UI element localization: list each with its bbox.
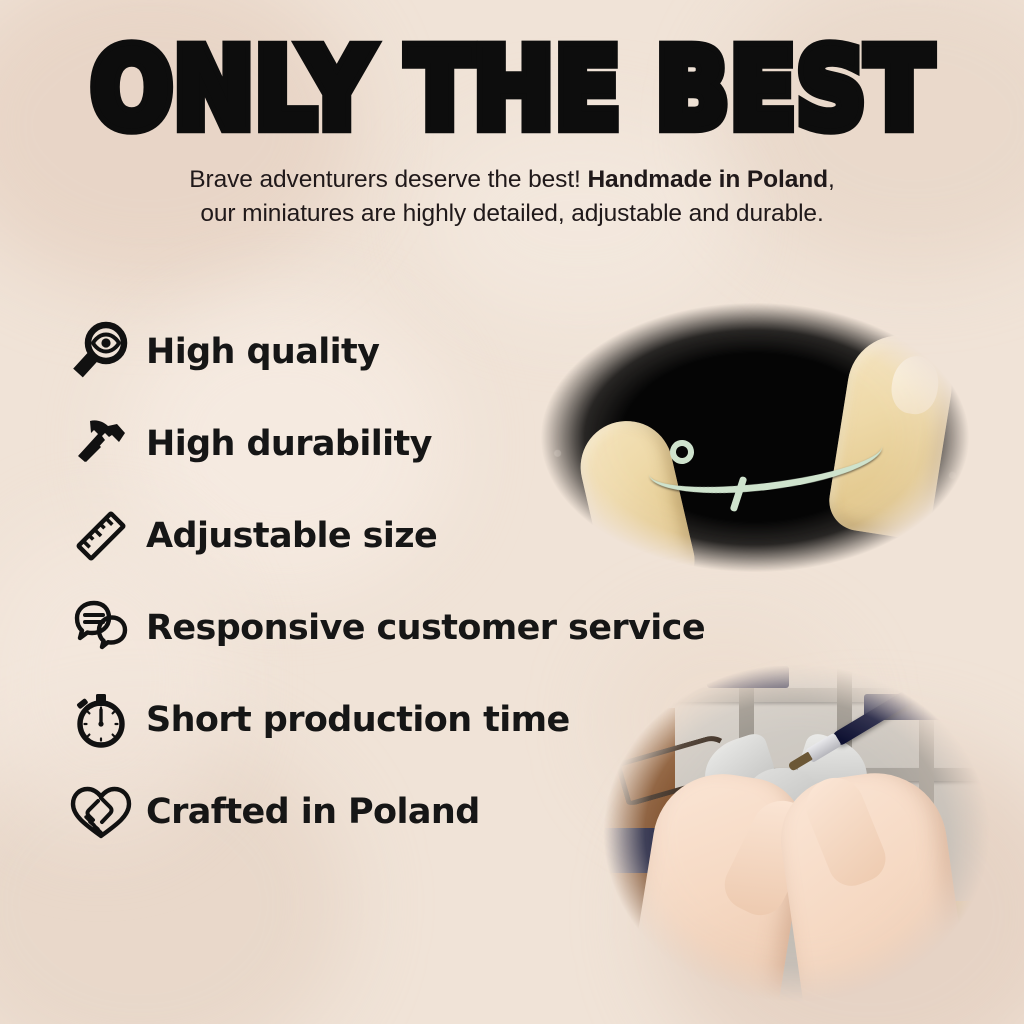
feature-list: High quality High durability bbox=[62, 306, 762, 858]
speech-bubbles-icon bbox=[62, 593, 140, 663]
hand-right bbox=[773, 764, 978, 1018]
subtitle-lead: Brave adventurers deserve the best! bbox=[189, 166, 587, 193]
feature-item-high-durability: High durability bbox=[62, 398, 762, 490]
ruler-icon bbox=[62, 501, 140, 571]
handshake-heart-icon bbox=[62, 777, 140, 847]
feature-item-crafted-in-poland: Crafted in Poland bbox=[62, 766, 762, 858]
feature-item-responsive-customer-service: Responsive customer service bbox=[62, 582, 762, 674]
feature-label: Short production time bbox=[146, 700, 570, 740]
subtitle: Brave adventurers deserve the best! Hand… bbox=[0, 163, 1024, 230]
feature-label: Adjustable size bbox=[146, 516, 437, 556]
page-title: ONLY THE BEST bbox=[0, 38, 1024, 142]
feature-item-high-quality: High quality bbox=[62, 306, 762, 398]
stopwatch-icon bbox=[62, 685, 140, 755]
subtitle-highlight: Handmade in Poland bbox=[587, 166, 828, 193]
hammer-icon bbox=[62, 409, 140, 479]
feature-item-adjustable-size: Adjustable size bbox=[62, 490, 762, 582]
feature-label: High quality bbox=[146, 332, 379, 372]
feature-label: Crafted in Poland bbox=[146, 792, 480, 832]
subtitle-line-2: our miniatures are highly detailed, adju… bbox=[200, 200, 823, 227]
feature-item-short-production-time: Short production time bbox=[62, 674, 762, 766]
feature-label: Responsive customer service bbox=[146, 608, 705, 648]
feature-label: High durability bbox=[146, 424, 432, 464]
subtitle-comma: , bbox=[828, 166, 835, 193]
fingernail bbox=[888, 353, 943, 417]
header: ONLY THE BEST Brave adventurers deserve … bbox=[0, 0, 1024, 230]
magnifier-eye-icon bbox=[62, 317, 140, 387]
